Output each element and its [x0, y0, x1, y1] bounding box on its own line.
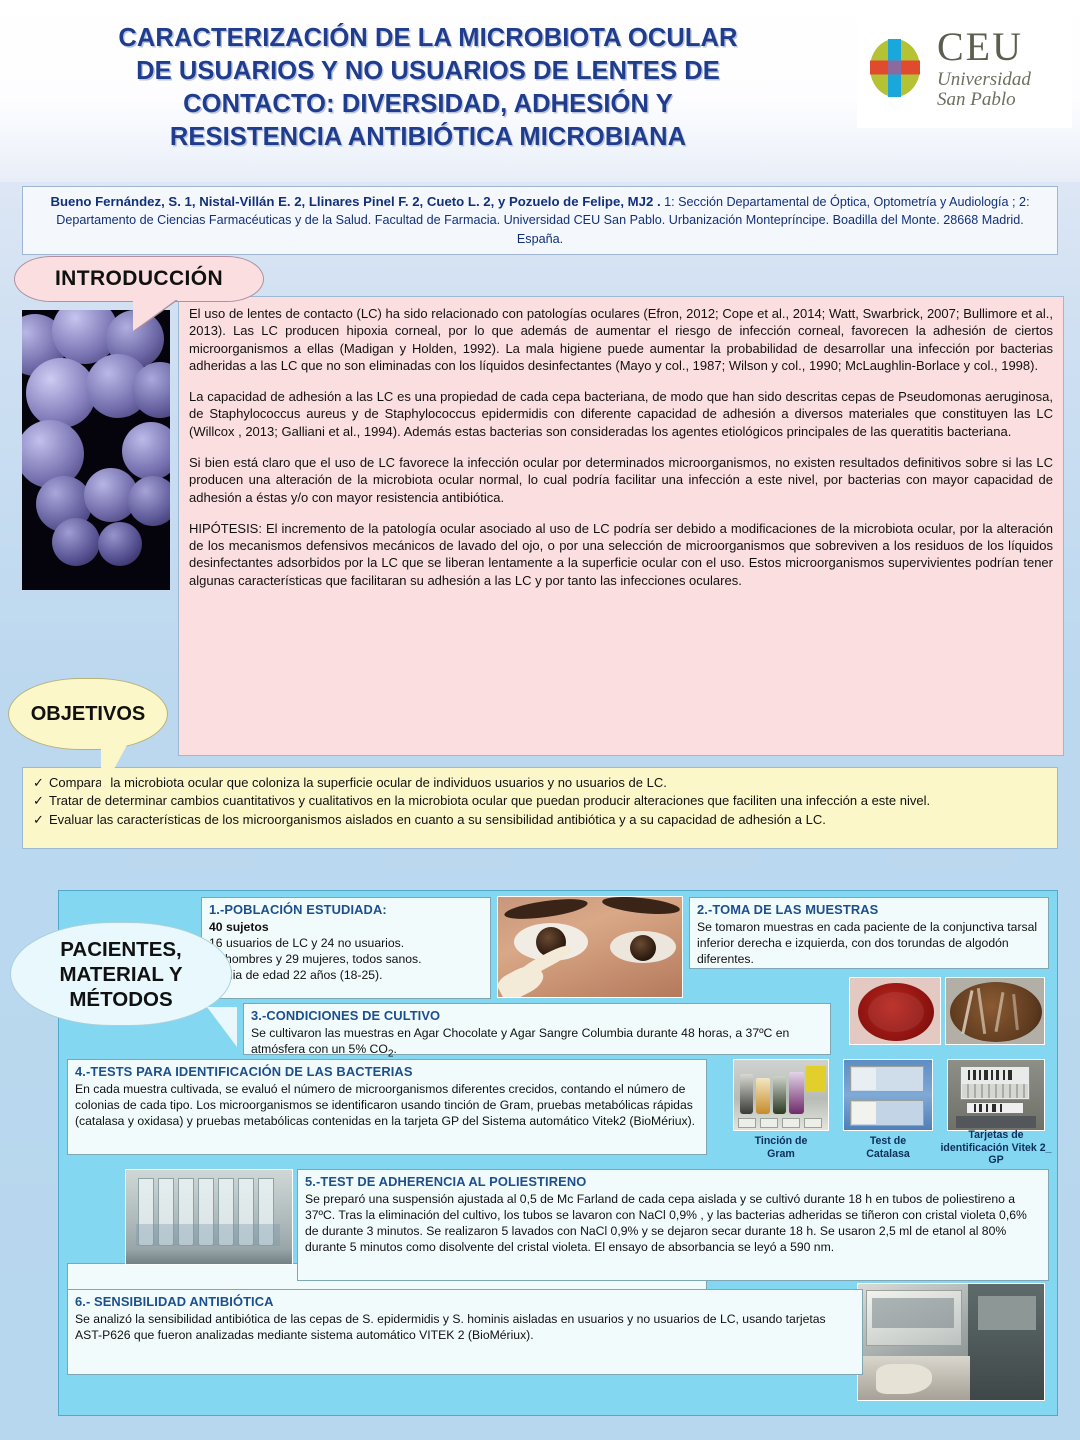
poblacion-line-3: 11 hombres y 29 mujeres, todos sanos.: [209, 952, 483, 968]
metodos-box-condiciones-body: Se cultivaron las muestras en Agar Choco…: [251, 1026, 823, 1061]
objetivos-label: OBJETIVOS: [31, 703, 145, 726]
photo-agar-chocolate: [945, 977, 1045, 1045]
caption-tarjetas-vitek: Tarjetas de identificación Vitek 2_ GP: [939, 1129, 1053, 1167]
condiciones-body-end: .: [394, 1042, 397, 1056]
metodos-box-toma-muestras-title: 2.-TOMA DE LAS MUESTRAS: [697, 902, 1041, 919]
photo-equipo-vitek2: [857, 1283, 1045, 1401]
poblacion-line-1: 40 sujetos: [209, 920, 483, 936]
metodos-label-line-1: PACIENTES,: [60, 937, 182, 962]
condiciones-body-text: Se cultivaron las muestras en Agar Choco…: [251, 1026, 789, 1056]
check-icon: ✓: [33, 792, 49, 810]
caption-tincion-gram-line-2: Gram: [725, 1148, 837, 1161]
metodos-box-poblacion: 1.-POBLACIÓN ESTUDIADA: 40 sujetos 16 us…: [201, 897, 491, 999]
photo-test-catalasa: [843, 1059, 933, 1131]
list-item: ✓ Comparar la microbiota ocular que colo…: [33, 774, 1047, 792]
photo-ojo-toma-muestra: [497, 896, 683, 998]
objetivo-text-1: Comparar la microbiota ocular que coloni…: [49, 774, 1047, 792]
metodos-box-sensibilidad: 6.- SENSIBILIDAD ANTIBIÓTICA Se analizó …: [67, 1289, 863, 1375]
author-names: Bueno Fernández, S. 1, Nistal-Villán E. …: [50, 194, 660, 209]
metodos-box-adherencia-body: Se preparó una suspensión ajustada al 0,…: [305, 1192, 1041, 1256]
caption-test-catalasa: Test de Catalasa: [837, 1135, 939, 1160]
photo-tincion-gram: [733, 1059, 829, 1131]
ceu-logo-line2: San Pablo: [937, 90, 1031, 109]
check-icon: ✓: [33, 774, 49, 792]
title-line-3: CONTACTO: DIVERSIDAD, ADHESIÓN Y: [8, 88, 848, 121]
introduccion-paragraph-2: La capacidad de adhesión a las LC es una…: [189, 388, 1053, 440]
metodos-label-line-2: MATERIAL Y: [59, 962, 182, 987]
metodos-box-poblacion-title: 1.-POBLACIÓN ESTUDIADA:: [209, 902, 483, 919]
introduccion-paragraph-3: Si bien está claro que el uso de LC favo…: [189, 454, 1053, 506]
caption-tarjetas-vitek-line-1: Tarjetas de: [939, 1129, 1053, 1142]
metodos-box-identificacion: 4.-TESTS PARA IDENTIFICACIÓN DE LAS BACT…: [67, 1059, 707, 1155]
metodos-box-sensibilidad-title: 6.- SENSIBILIDAD ANTIBIÓTICA: [75, 1294, 855, 1311]
introduccion-text: El uso de lentes de contacto (LC) ha sid…: [178, 296, 1064, 756]
introduccion-paragraph-hipotesis: HIPÓTESIS: El incremento de la patología…: [189, 520, 1053, 589]
caption-tincion-gram-line-1: Tinción de: [725, 1135, 837, 1148]
photo-tarjeta-vitek: [947, 1059, 1045, 1131]
page-title: CARACTERIZACIÓN DE LA MICROBIOTA OCULAR …: [8, 22, 848, 155]
photo-agar-sangre: [849, 977, 941, 1045]
metodos-box-identificacion-title: 4.-TESTS PARA IDENTIFICACIÓN DE LAS BACT…: [75, 1064, 699, 1081]
section-callout-metodos: PACIENTES, MATERIAL Y MÉTODOS: [10, 922, 232, 1026]
metodos-label-line-3: MÉTODOS: [69, 987, 172, 1012]
caption-test-catalasa-line-2: Catalasa: [837, 1148, 939, 1161]
caption-tarjetas-vitek-line-2: identificación Vitek 2_: [939, 1142, 1053, 1155]
photo-tubos-poliestireno: [125, 1169, 293, 1265]
micrograph-bacteria-image: [22, 310, 170, 590]
list-item: ✓ Evaluar las características de los mic…: [33, 811, 1047, 829]
poblacion-line-2: 16 usuarios de LC y 24 no usuarios.: [209, 936, 483, 952]
metodos-box-toma-muestras: 2.-TOMA DE LAS MUESTRAS Se tomaron muest…: [689, 897, 1049, 969]
objetivo-text-2: Tratar de determinar cambios cuantitativ…: [49, 792, 1047, 810]
metodos-box-adherencia-title: 5.-TEST DE ADHERENCIA AL POLIESTIRENO: [305, 1174, 1041, 1191]
introduccion-paragraph-1: El uso de lentes de contacto (LC) ha sid…: [189, 305, 1053, 374]
caption-tincion-gram: Tinción de Gram: [725, 1135, 837, 1160]
title-line-1: CARACTERIZACIÓN DE LA MICROBIOTA OCULAR: [8, 22, 848, 55]
ceu-logo-name: CEU: [937, 27, 1031, 67]
ceu-logo-text: CEU Universidad San Pablo: [937, 27, 1031, 109]
ceu-logo: CEU Universidad San Pablo: [857, 8, 1072, 128]
metodos-box-adherencia: 5.-TEST DE ADHERENCIA AL POLIESTIRENO Se…: [297, 1169, 1049, 1281]
ceu-logo-mark-icon: [867, 37, 923, 99]
list-item: ✓ Tratar de determinar cambios cuantitat…: [33, 792, 1047, 810]
section-callout-introduccion: INTRODUCCIÓN: [14, 256, 264, 302]
poster-body: Bueno Fernández, S. 1, Nistal-Villán E. …: [0, 182, 1080, 1440]
title-line-2: DE USUARIOS Y NO USUARIOS DE LENTES DE: [8, 55, 848, 88]
check-icon: ✓: [33, 811, 49, 829]
metodos-box-identificacion-body: En cada muestra cultivada, se evaluó el …: [75, 1082, 699, 1130]
metodos-box-sensibilidad-body: Se analizó la sensibilidad antibiótica d…: [75, 1312, 855, 1344]
objetivos-list: ✓ Comparar la microbiota ocular que colo…: [22, 767, 1058, 849]
metodos-box-condiciones-cultivo: 3.-CONDICIONES DE CULTIVO Se cultivaron …: [243, 1003, 831, 1055]
introduccion-label: INTRODUCCIÓN: [55, 267, 223, 291]
poblacion-line-4: Media de edad 22 años (18-25).: [209, 968, 483, 984]
caption-test-catalasa-line-1: Test de: [837, 1135, 939, 1148]
objetivo-text-3: Evaluar las características de los micro…: [49, 811, 1047, 829]
title-line-4: RESISTENCIA ANTIBIÓTICA MICROBIANA: [8, 121, 848, 154]
metodos-box-toma-muestras-body: Se tomaron muestras en cada paciente de …: [697, 920, 1041, 968]
caption-tarjetas-vitek-line-3: GP: [939, 1154, 1053, 1167]
poster-header: CARACTERIZACIÓN DE LA MICROBIOTA OCULAR …: [0, 0, 1080, 182]
authors-affiliations-block: Bueno Fernández, S. 1, Nistal-Villán E. …: [22, 186, 1058, 255]
ceu-logo-line1: Universidad: [937, 70, 1031, 89]
metodos-box-condiciones-title: 3.-CONDICIONES DE CULTIVO: [251, 1008, 823, 1025]
section-callout-objetivos: OBJETIVOS: [8, 678, 168, 750]
